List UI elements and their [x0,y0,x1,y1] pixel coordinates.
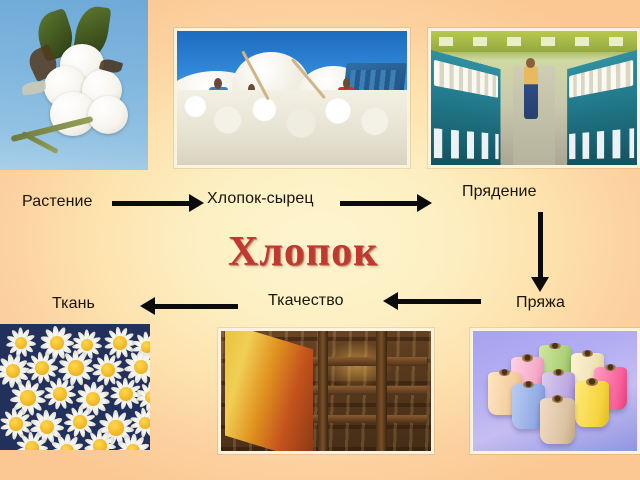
photo-raw-cotton [174,28,410,168]
daisy-center [68,360,83,375]
yarn-cone [575,381,609,427]
spinning-spool-rack [434,60,498,97]
cotton-boll [88,96,128,134]
label-step-raw: Хлопок-сырец [207,190,314,208]
loom-beam [313,357,426,365]
label-step-plant: Растение [22,193,93,211]
arrow-right-icon [417,194,432,212]
arrow-yarn-to-weaving [383,292,481,310]
arrow-shaft [538,212,543,279]
arrow-plant-to-raw [112,194,204,212]
daisy-center [53,387,66,400]
photo-spinning-mill [428,28,640,168]
label-step-yarn: Пряжа [516,294,565,312]
photo-daisy-fabric [0,324,150,450]
daisy-center [20,390,35,405]
daisy-center [139,417,150,430]
daisy-center [73,415,86,428]
spinning-machine-right [568,50,637,165]
slide-canvas: Растение Хлопок-сырец Прядение Хлопок Пр… [0,0,640,480]
arrow-left-icon [383,292,398,310]
label-step-spinning: Прядение [462,183,537,201]
daisy-center [25,441,38,450]
daisy-center [9,417,22,430]
arrow-shaft [340,201,419,206]
loom-post [376,331,387,451]
raw-cotton-pile [177,90,407,165]
arrow-right-icon [189,194,204,212]
loom-warp-threads [225,328,313,454]
daisy-center [113,336,126,349]
spinning-mill-worker [524,66,538,120]
arrow-shaft [153,304,238,309]
loom-beam [313,386,426,394]
daisy-center [101,363,114,376]
spinning-mill-ceiling [431,31,637,52]
spinning-machine-left [431,50,500,165]
arrow-down-icon [531,277,549,292]
daisy-center [93,439,106,450]
photo-weaving-loom [218,328,434,454]
arrow-shaft [396,299,481,304]
photo-thread-cones [470,328,640,454]
spinning-spool-rack [570,60,634,97]
loom-beam [313,415,426,423]
arrow-shaft [112,201,191,206]
arrow-weaving-to-fabric [140,297,238,315]
spinning-bobbins [569,128,634,159]
daisy-center [119,387,132,400]
label-step-fabric: Ткань [52,295,95,313]
daisy-flower [44,378,76,410]
label-step-weaving: Ткачество [268,292,344,310]
arrow-raw-to-spinning [340,194,432,212]
loom-post [318,331,329,451]
daisy-center [35,361,48,374]
page-title: Хлопок [228,228,378,276]
spinning-bobbins [433,128,498,159]
arrow-spinning-to-yarn [531,212,549,292]
photo-cotton-plant [0,0,148,170]
fabric-daisy-pattern [0,324,150,450]
arrow-left-icon [140,297,155,315]
yarn-cone [540,398,574,444]
